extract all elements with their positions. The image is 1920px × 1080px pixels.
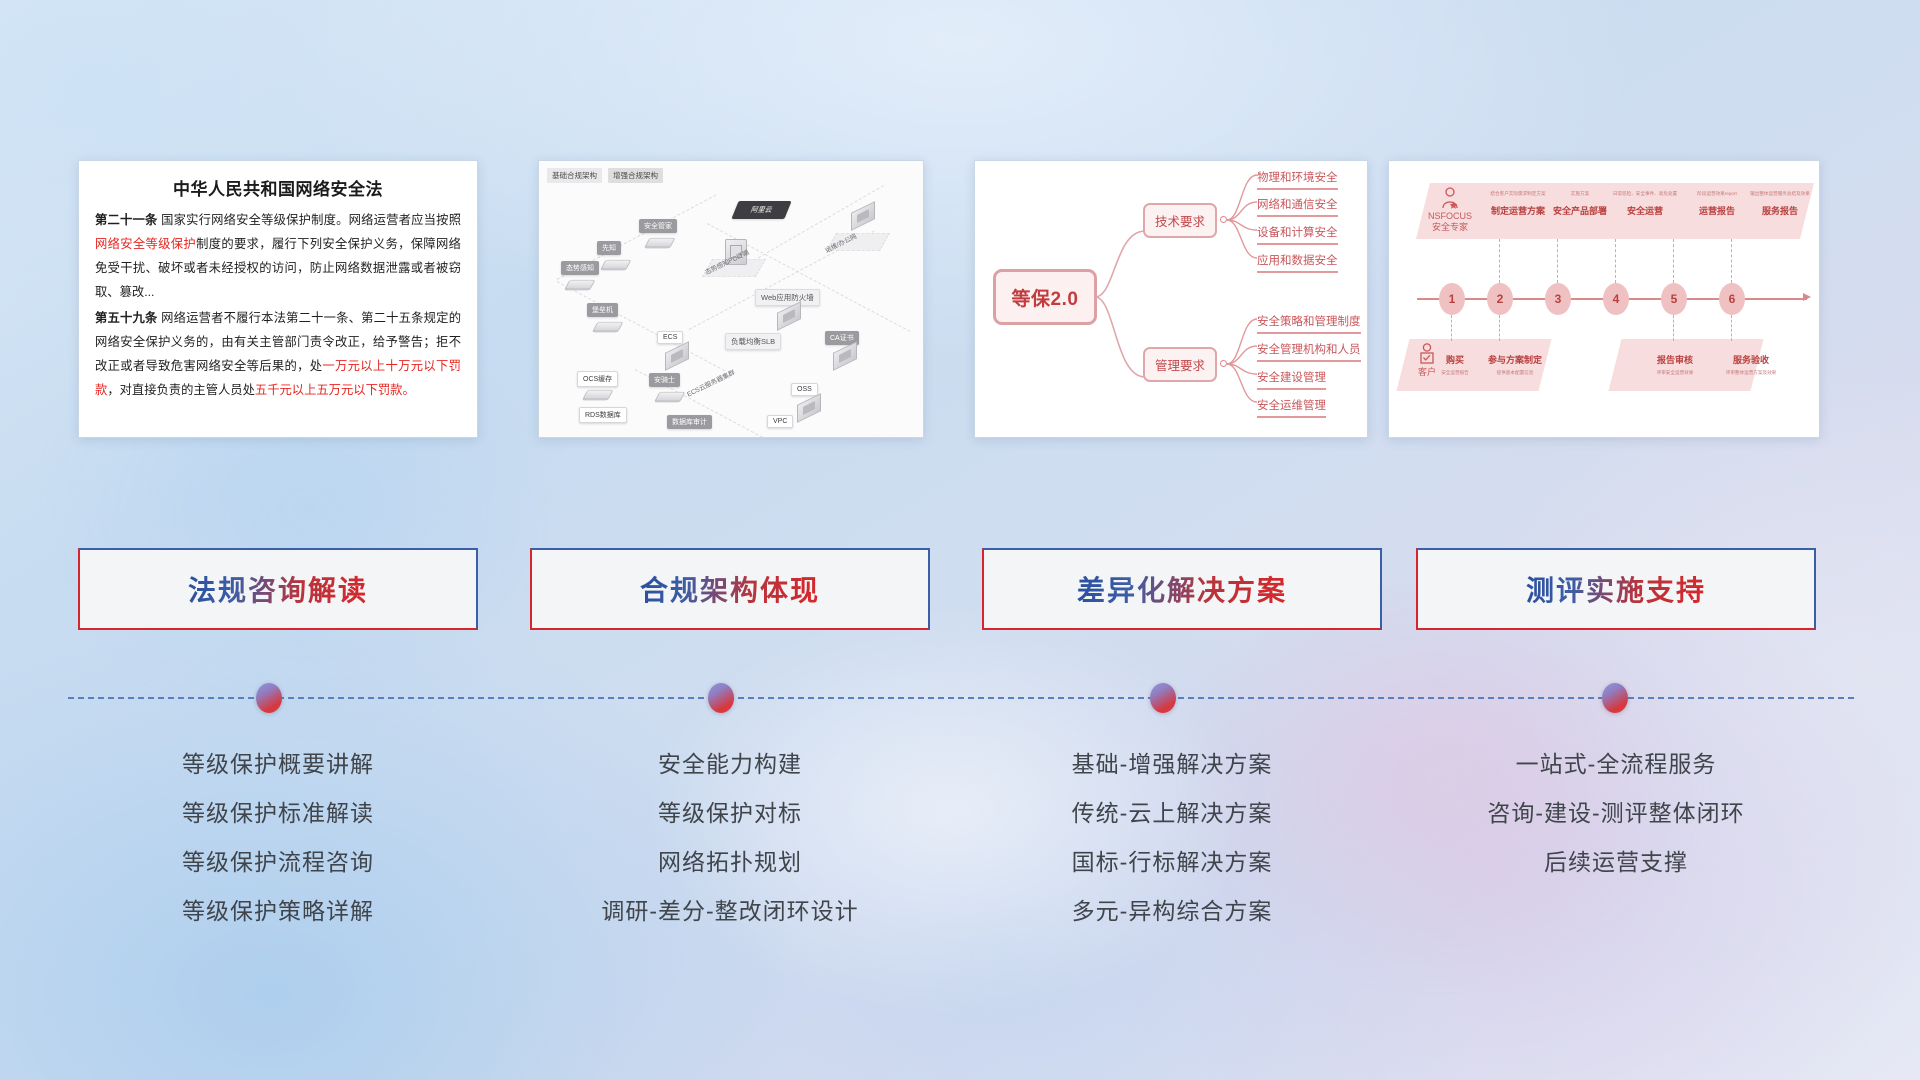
- iso-disk-bastion: [593, 322, 624, 331]
- feature-item: 传统-云上解决方案: [962, 789, 1382, 838]
- timeline-top-step-5: 输出整体运营服务总结及效果 服务报告: [1729, 191, 1820, 217]
- process-timeline-line: [68, 697, 1854, 699]
- timeline-node-2[interactable]: 2: [1487, 283, 1513, 315]
- feature-column-4: 一站式-全流程服务 咨询-建设-测评整体闭环 后续运营支撑: [1406, 740, 1826, 887]
- mindmap-leaf-policy-system: 安全策略和管理制度: [1257, 313, 1361, 334]
- iso-cube-ops: [851, 201, 875, 231]
- mindmap-root: 等保2.0: [993, 269, 1097, 325]
- timeline-bottom-step-1-sub: 安全运营报告: [1431, 370, 1479, 376]
- timeline-bottom-step-2: 参与方案制定 提供基本配置信息: [1475, 353, 1555, 376]
- node-ocs-cache: OCS缓存: [577, 371, 618, 387]
- iso-disk-1: [565, 280, 596, 289]
- iso-cube-ca: [833, 341, 857, 371]
- feature-item: 安全能力构建: [520, 740, 940, 789]
- law-article-59-highlight-b: 五千元以上五万元以下罚款。: [255, 383, 415, 397]
- reference-cards-row: 中华人民共和国网络安全法 第二十一条 国家实行网络安全等级保护制度。网络运营者应…: [0, 152, 1920, 442]
- mindmap-leaf-ops-mgmt: 安全运维管理: [1257, 397, 1326, 418]
- node-rds: RDS数据库: [579, 407, 627, 423]
- feature-item: 多元-异构综合方案: [962, 887, 1382, 936]
- headline-box-assessment-support[interactable]: 测评实施支持: [1416, 548, 1816, 630]
- provider-persona-line2: 安全专家: [1419, 222, 1481, 233]
- node-oss: OSS: [791, 383, 818, 396]
- mindmap: 等保2.0 技术要求 管理要求 物理和环境安全: [975, 161, 1367, 437]
- architecture-tabs: 基础合规架构 增强合规架构: [547, 168, 663, 183]
- mindmap-branch-management: 管理要求: [1143, 347, 1217, 382]
- node-anqishi: 安骑士: [649, 373, 680, 387]
- timeline-tick-4-top: [1615, 239, 1616, 283]
- timeline-tick-5-top: [1673, 239, 1674, 283]
- law-article-21-text-a: 国家实行网络安全等级保护制度。网络运营者应当按照: [158, 213, 461, 227]
- timeline-tick-6-top: [1731, 239, 1732, 283]
- expert-person-icon: [1440, 187, 1460, 209]
- iso-cube-ecs: [665, 341, 689, 371]
- process-timeline-bead-4[interactable]: [1602, 683, 1628, 713]
- iso-disk-ocs: [583, 390, 614, 399]
- iso-disk-3: [645, 238, 676, 247]
- timeline-tick-1-bottom: [1451, 315, 1452, 341]
- iso-disk-2: [601, 260, 632, 269]
- mindmap-leaf-app-data: 应用和数据安全: [1257, 252, 1338, 273]
- process-timeline-bead-1[interactable]: [256, 683, 282, 713]
- law-article-21-highlight: 网络安全等级保护: [95, 237, 196, 251]
- timeline-node-3[interactable]: 3: [1545, 283, 1571, 315]
- node-waf: Web应用防火墙: [755, 289, 820, 306]
- node-aliyun: 阿里云: [731, 201, 791, 219]
- feature-item: 基础-增强解决方案: [962, 740, 1382, 789]
- process-timeline-bead-3[interactable]: [1150, 683, 1176, 713]
- mindmap-branch-technical: 技术要求: [1143, 203, 1217, 238]
- timeline-tick-2-bottom: [1499, 315, 1500, 341]
- mindmap-leaf-physical-env: 物理和环境安全: [1257, 169, 1338, 190]
- feature-item: 后续运营支撑: [1406, 838, 1826, 887]
- feature-item: 等级保护流程咨询: [68, 838, 488, 887]
- node-situation-awareness: 态势感知: [561, 261, 599, 275]
- node-ecs-cluster-label: ECS云服务器集群: [685, 367, 736, 399]
- card-cybersecurity-law[interactable]: 中华人民共和国网络安全法 第二十一条 国家实行网络安全等级保护制度。网络运营者应…: [78, 160, 478, 438]
- node-security-steward: 安全管家: [639, 219, 677, 233]
- timeline-node-4[interactable]: 4: [1603, 283, 1629, 315]
- provider-persona-line1: NSFOCUS: [1419, 211, 1481, 222]
- law-content: 中华人民共和国网络安全法 第二十一条 国家实行网络安全等级保护制度。网络运营者应…: [79, 161, 477, 413]
- timeline-bottom-step-3-main: 报告审核: [1639, 353, 1711, 366]
- feature-column-3: 基础-增强解决方案 传统-云上解决方案 国标-行标解决方案 多元-异构综合方案: [962, 740, 1382, 936]
- architecture-diagram: 基础合规架构 增强合规架构 阿里云 态势感知 先知 安全管家 运维/办公网: [539, 161, 923, 437]
- feature-item: 等级保护概要讲解: [68, 740, 488, 789]
- timeline-arrow-icon: [1803, 293, 1811, 301]
- node-bastion-host: 堡垒机: [587, 303, 618, 317]
- mindmap-leaf-build-mgmt: 安全建设管理: [1257, 369, 1326, 390]
- headline-label-2: 合规架构体现: [640, 569, 820, 609]
- law-article-59-label: 第五十九条: [95, 311, 158, 325]
- architecture-tab-enhanced[interactable]: 增强合规架构: [608, 168, 663, 183]
- feature-item: 等级保护对标: [520, 789, 940, 838]
- node-slb: 负载均衡SLB: [725, 333, 781, 350]
- timeline-bottom-step-2-main: 参与方案制定: [1475, 353, 1555, 366]
- node-db-audit: 数据库审计: [667, 415, 712, 429]
- feature-item: 调研-差分-整改闭环设计: [520, 887, 940, 936]
- iso-cube-oss: [797, 393, 821, 423]
- node-xianzhi: 先知: [597, 241, 621, 255]
- feature-column-1: 等级保护概要讲解 等级保护标准解读 等级保护流程咨询 等级保护策略详解: [68, 740, 488, 936]
- timeline-bottom-step-1-main: 购买: [1431, 353, 1479, 366]
- headline-label-1: 法规咨询解读: [188, 569, 368, 609]
- timeline-bottom-step-2-sub: 提供基本配置信息: [1475, 370, 1555, 376]
- timeline-bottom-step-4-main: 服务验收: [1709, 353, 1793, 366]
- timeline-tick-6-bottom: [1731, 315, 1732, 341]
- headline-box-regulation-consulting[interactable]: 法规咨询解读: [78, 548, 478, 630]
- headline-box-differentiated-solution[interactable]: 差异化解决方案: [982, 548, 1382, 630]
- iso-disk-agent: [655, 392, 686, 401]
- law-article-59: 第五十九条 网络运营者不履行本法第二十一条、第二十五条规定的网络安全保护义务的，…: [95, 307, 461, 403]
- timeline-tick-5-bottom: [1673, 315, 1674, 341]
- timeline-bottom-step-4: 服务验收 评审整体运营方案及效果: [1709, 353, 1793, 376]
- mindmap-leaf-org-personnel: 安全管理机构和人员: [1257, 341, 1361, 362]
- feature-item: 一站式-全流程服务: [1406, 740, 1826, 789]
- headline-box-compliance-architecture[interactable]: 合规架构体现: [530, 548, 930, 630]
- iso-guide-6: [745, 185, 884, 266]
- timeline-tick-3-top: [1557, 239, 1558, 283]
- feature-column-2: 安全能力构建 等级保护对标 网络拓扑规划 调研-差分-整改闭环设计: [520, 740, 940, 936]
- feature-item: 等级保护策略详解: [68, 887, 488, 936]
- headline-label-3: 差异化解决方案: [1077, 569, 1287, 609]
- card-cloud-architecture[interactable]: 基础合规架构 增强合规架构 阿里云 态势感知 先知 安全管家 运维/办公网: [538, 160, 924, 438]
- mindmap-leaf-network-comm: 网络和通信安全: [1257, 196, 1338, 217]
- provider-persona: NSFOCUS 安全专家: [1419, 187, 1481, 234]
- process-timeline-bead-2[interactable]: [708, 683, 734, 713]
- node-ecs: ECS: [657, 331, 683, 344]
- service-timeline: NSFOCUS 安全专家 结合客户实际需求制定方案 制定运营方案 实施方案 安全…: [1389, 161, 1819, 437]
- timeline-bottom-step-3: 报告审核 评审安全运营效果: [1639, 353, 1711, 376]
- mindmap-leaf-device-compute: 设备和计算安全: [1257, 224, 1338, 245]
- architecture-tab-basic[interactable]: 基础合规架构: [547, 168, 602, 183]
- headline-label-4: 测评实施支持: [1526, 569, 1706, 609]
- timeline-bottom-step-1: 购买 安全运营报告: [1431, 353, 1479, 376]
- timeline-node-5[interactable]: 5: [1661, 283, 1687, 315]
- feature-item: 咨询-建设-测评整体闭环: [1406, 789, 1826, 838]
- feature-item: 国标-行标解决方案: [962, 838, 1382, 887]
- card-mindmap-dengbao[interactable]: 等保2.0 技术要求 管理要求 物理和环境安全: [974, 160, 1368, 438]
- law-article-21: 第二十一条 国家实行网络安全等级保护制度。网络运营者应当按照网络安全等级保护制度…: [95, 209, 461, 305]
- iso-guide-2: [557, 281, 725, 371]
- mindmap-technical-connectors: [1225, 167, 1259, 277]
- card-service-timeline[interactable]: NSFOCUS 安全专家 结合客户实际需求制定方案 制定运营方案 实施方案 安全…: [1388, 160, 1820, 438]
- timeline-bottom-step-3-sub: 评审安全运营效果: [1639, 370, 1711, 376]
- timeline-bottom-step-4-sub: 评审整体运营方案及效果: [1709, 370, 1793, 376]
- timeline-node-6[interactable]: 6: [1719, 283, 1745, 315]
- law-title: 中华人民共和国网络安全法: [95, 175, 461, 200]
- timeline-node-1[interactable]: 1: [1439, 283, 1465, 315]
- node-vpc: VPC: [767, 415, 793, 428]
- feature-item: 网络拓扑规划: [520, 838, 940, 887]
- law-article-21-label: 第二十一条: [95, 213, 158, 227]
- timeline-tick-2-top: [1499, 239, 1500, 283]
- law-article-59-text-b: ，对直接负责的主管人员处: [107, 383, 255, 397]
- timeline-top-step-5-sub: 输出整体运营服务总结及效果: [1729, 191, 1820, 197]
- mindmap-management-connectors: [1225, 311, 1259, 421]
- feature-item: 等级保护标准解读: [68, 789, 488, 838]
- timeline-top-step-5-main: 服务报告: [1729, 204, 1820, 217]
